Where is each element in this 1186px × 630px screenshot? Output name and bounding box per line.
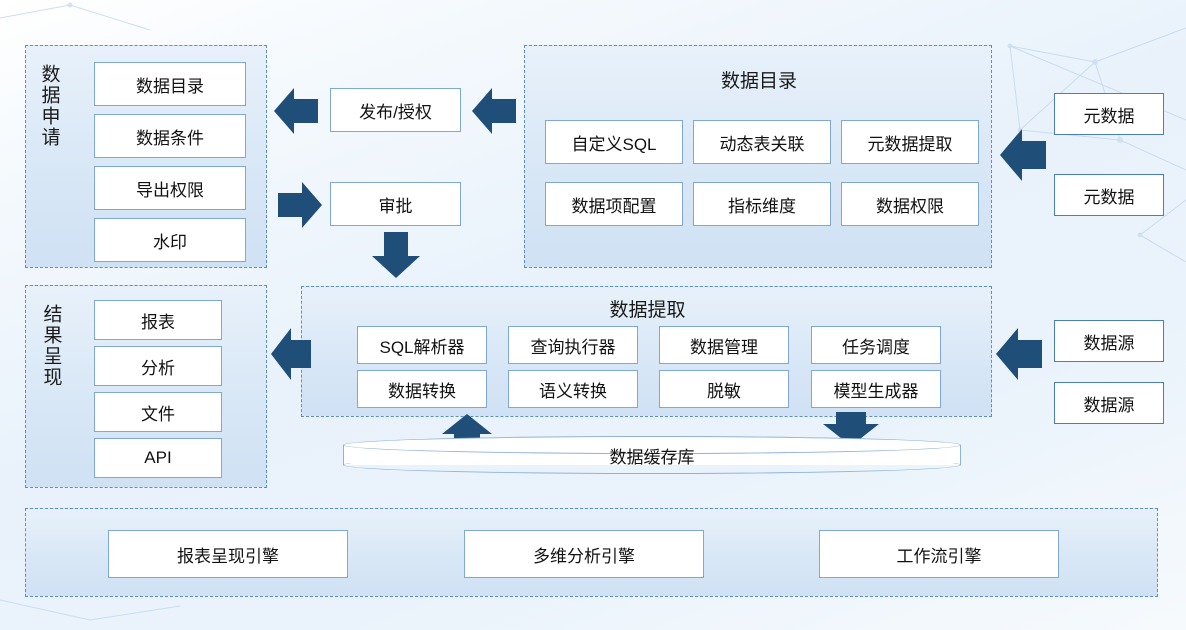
- cylinder-data-cache: 数据缓存库: [343, 436, 961, 474]
- node-export-permission[interactable]: 导出权限: [94, 166, 246, 210]
- panel-data-request-title: 数据申请: [38, 64, 59, 244]
- node-data-transformation[interactable]: 数据转换: [357, 370, 487, 408]
- node-data-management[interactable]: 数据管理: [659, 326, 789, 364]
- panel-data-request: 数据申请 数据目录 数据条件 导出权限 水印: [25, 45, 267, 268]
- node-metric-dimension[interactable]: 指标维度: [693, 182, 831, 226]
- node-data-conditions[interactable]: 数据条件: [94, 114, 246, 158]
- panel-data-extraction: 数据提取 SQL解析器 查询执行器 数据管理 任务调度 数据转换 语义转换 脱敏…: [301, 286, 992, 417]
- node-semantic-transformation[interactable]: 语义转换: [508, 370, 638, 408]
- node-metadata-extraction[interactable]: 元数据提取: [841, 120, 979, 164]
- node-custom-sql[interactable]: 自定义SQL: [545, 120, 683, 164]
- node-api[interactable]: API: [94, 438, 222, 478]
- panel-engines: 报表呈现引擎 多维分析引擎 工作流引擎: [25, 508, 1158, 597]
- node-desensitization[interactable]: 脱敏: [659, 370, 789, 408]
- node-analysis[interactable]: 分析: [94, 346, 222, 386]
- arrow-approval-to-extraction: [370, 232, 422, 278]
- node-file[interactable]: 文件: [94, 392, 222, 432]
- panel-data-catalog: 数据目录 自定义SQL 动态表关联 元数据提取 数据项配置 指标维度 数据权限: [524, 45, 992, 268]
- node-data-source-2[interactable]: 数据源: [1054, 382, 1164, 424]
- node-data-source-1[interactable]: 数据源: [1054, 320, 1164, 362]
- panel-result-presentation: 结果呈现 报表 分析 文件 API: [25, 285, 267, 488]
- node-publish-authorize[interactable]: 发布/授权: [330, 88, 461, 132]
- node-dynamic-table-relation[interactable]: 动态表关联: [693, 120, 831, 164]
- arrow-sources-to-extraction: [996, 326, 1042, 382]
- node-watermark[interactable]: 水印: [94, 218, 246, 262]
- panel-data-extraction-title: 数据提取: [302, 295, 993, 322]
- panel-result-presentation-title: 结果呈现: [40, 304, 61, 474]
- node-query-executor[interactable]: 查询执行器: [508, 326, 638, 364]
- arrow-metadata-to-catalog: [1000, 126, 1046, 184]
- panel-data-catalog-title: 数据目录: [525, 66, 993, 93]
- node-data-catalog-request[interactable]: 数据目录: [94, 62, 246, 106]
- node-report[interactable]: 报表: [94, 300, 222, 340]
- cylinder-label: 数据缓存库: [343, 436, 961, 474]
- node-metadata-2[interactable]: 元数据: [1054, 174, 1164, 216]
- node-report-engine[interactable]: 报表呈现引擎: [108, 530, 348, 578]
- arrow-publish-to-request: [274, 86, 318, 136]
- arrow-request-to-approval: [278, 180, 322, 230]
- arrow-extraction-to-result: [271, 326, 311, 382]
- node-approval[interactable]: 审批: [330, 182, 461, 226]
- node-workflow-engine[interactable]: 工作流引擎: [819, 530, 1059, 578]
- node-sql-parser[interactable]: SQL解析器: [357, 326, 487, 364]
- architecture-diagram: 数据申请 数据目录 数据条件 导出权限 水印 结果呈现 报表 分析 文件 API…: [0, 0, 1186, 630]
- arrow-catalog-to-publish: [472, 86, 516, 136]
- node-task-scheduling[interactable]: 任务调度: [811, 326, 941, 364]
- node-data-permission[interactable]: 数据权限: [841, 182, 979, 226]
- node-metadata-1[interactable]: 元数据: [1054, 93, 1164, 135]
- node-data-item-config[interactable]: 数据项配置: [545, 182, 683, 226]
- node-multidim-analysis-engine[interactable]: 多维分析引擎: [464, 530, 704, 578]
- node-model-generator[interactable]: 模型生成器: [811, 370, 941, 408]
